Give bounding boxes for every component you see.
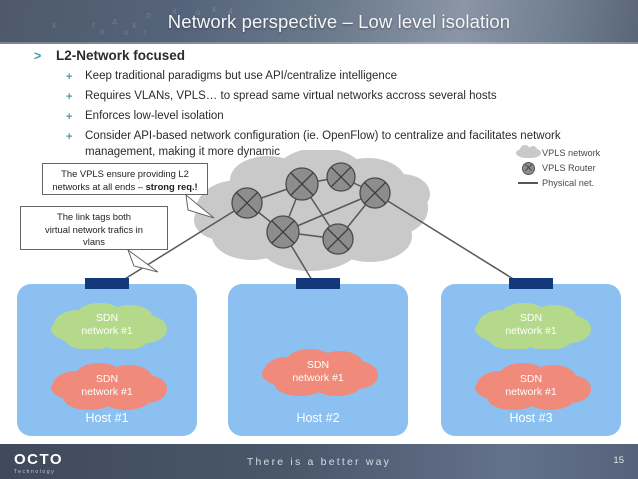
bullet-item: + Keep traditional paradigms but use API… bbox=[66, 69, 638, 85]
slide-header: x r 4 x o o r o x o o x 4 Network perspe… bbox=[0, 0, 638, 44]
page-title: Network perspective – Low level isolatio… bbox=[0, 0, 638, 44]
sdn-network-green: SDN network #1 bbox=[468, 301, 594, 349]
bullet-item-label: Requires VLANs, VPLS… to spread same vir… bbox=[85, 89, 497, 105]
sdn-label: SDN network #1 bbox=[81, 373, 132, 399]
plus-bullet-icon: + bbox=[66, 109, 85, 125]
bullet-item-label: Keep traditional paradigms but use API/c… bbox=[85, 69, 397, 85]
bullet-item: + Requires VLANs, VPLS… to spread same v… bbox=[66, 89, 638, 105]
bullet-item-label: Enforces low-level isolation bbox=[85, 109, 224, 125]
bullet-main: > L2-Network focused bbox=[34, 48, 638, 64]
router-icon bbox=[323, 224, 353, 254]
router-icon bbox=[232, 188, 262, 218]
router-icon bbox=[360, 178, 390, 208]
sdn-network-green: SDN network #1 bbox=[44, 301, 170, 349]
router-icon bbox=[327, 163, 355, 191]
sdn-label: SDN network #1 bbox=[505, 312, 556, 338]
callout-line2: virtual network trafics in bbox=[45, 224, 143, 235]
host-uplink-tab bbox=[296, 278, 340, 289]
slide-footer: OCTO Technology There is a better way 15 bbox=[0, 444, 638, 479]
host-label: Host #1 bbox=[17, 411, 197, 425]
bullet-item: + Enforces low-level isolation bbox=[66, 109, 638, 125]
host-uplink-tab bbox=[509, 278, 553, 289]
sdn-network-red: SDN network #1 bbox=[468, 362, 594, 410]
sdn-label: SDN network #1 bbox=[505, 373, 556, 399]
vpls-cloud-shape bbox=[194, 150, 430, 271]
callout-line2: networks at all ends – bbox=[52, 181, 145, 192]
plus-bullet-icon: + bbox=[66, 69, 85, 85]
host-label: Host #3 bbox=[441, 411, 621, 425]
host-uplink-tab bbox=[85, 278, 129, 289]
callout-line3: vlans bbox=[83, 236, 105, 247]
bullet-main-label: L2-Network focused bbox=[56, 48, 185, 64]
link-tags-callout: The link tags both virtual network trafi… bbox=[20, 206, 168, 250]
host-label: Host #2 bbox=[228, 411, 408, 425]
callout-bold: strong req.! bbox=[146, 181, 198, 192]
callout-line1: The VPLS ensure providing L2 bbox=[61, 168, 189, 179]
sdn-network-red: SDN network #1 bbox=[44, 362, 170, 410]
footer-tagline: There is a better way bbox=[0, 444, 638, 479]
slide: x r 4 x o o r o x o o x 4 Network perspe… bbox=[0, 0, 638, 479]
plus-bullet-icon: + bbox=[66, 89, 85, 105]
sdn-label: SDN network #1 bbox=[81, 312, 132, 338]
router-icon bbox=[267, 216, 299, 248]
router-icon bbox=[286, 168, 318, 200]
plus-bullet-icon: + bbox=[66, 129, 85, 145]
page-number: 15 bbox=[613, 455, 624, 466]
host-box-3[interactable]: SDN network #1 SDN network #1 bbox=[441, 284, 621, 436]
sdn-label: SDN network #1 bbox=[292, 359, 343, 385]
vpls-callout: The VPLS ensure providing L2 networks at… bbox=[42, 163, 208, 195]
chevron-bullet-icon: > bbox=[34, 48, 56, 64]
callout-line1: The link tags both bbox=[57, 211, 131, 222]
host-box-1[interactable]: SDN network #1 SDN network #1 bbox=[17, 284, 197, 436]
sdn-network-red: SDN network #1 bbox=[255, 348, 381, 396]
host-box-2[interactable]: SDN network #1 Host #2 bbox=[228, 284, 408, 436]
